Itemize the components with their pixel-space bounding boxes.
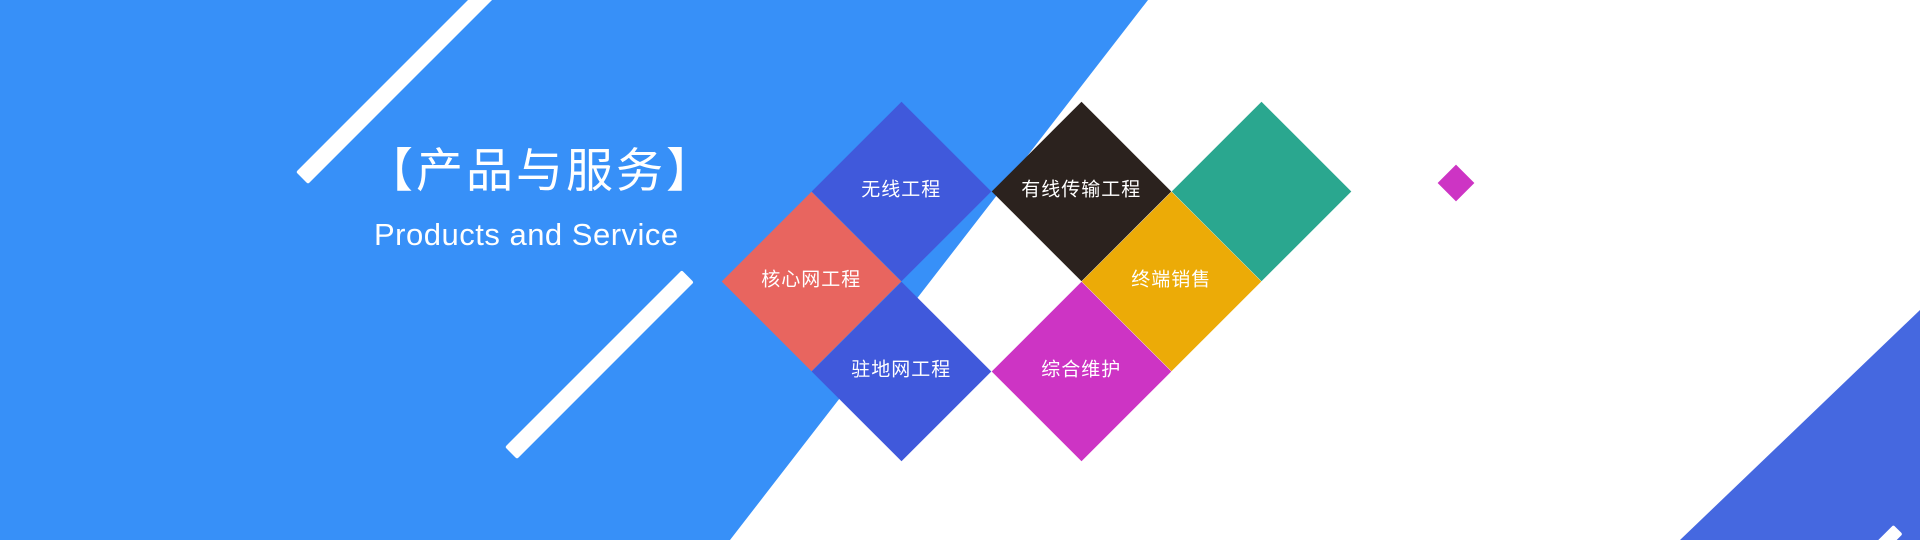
tile-integrated-maintenance-label: 综合维护 xyxy=(1041,360,1121,383)
tile-premises-network-label: 驻地网工程 xyxy=(851,360,951,383)
tile-core-network-label: 核心网工程 xyxy=(761,270,861,293)
corner-wedge-decoration xyxy=(1680,310,1920,540)
mini-diamond-decoration xyxy=(1438,165,1475,202)
tile-wired-transmission-label: 有线传输工程 xyxy=(1021,180,1141,203)
blue-background-panel xyxy=(0,0,1200,540)
tile-wireless-label: 无线工程 xyxy=(861,180,941,203)
product-service-banner: 【产品与服务】 Products and Service 无线工程 有线传输工程… xyxy=(0,0,1920,540)
tile-terminal-sales-label: 终端销售 xyxy=(1131,270,1211,293)
corner-diagonal-stripe xyxy=(1772,525,1903,540)
